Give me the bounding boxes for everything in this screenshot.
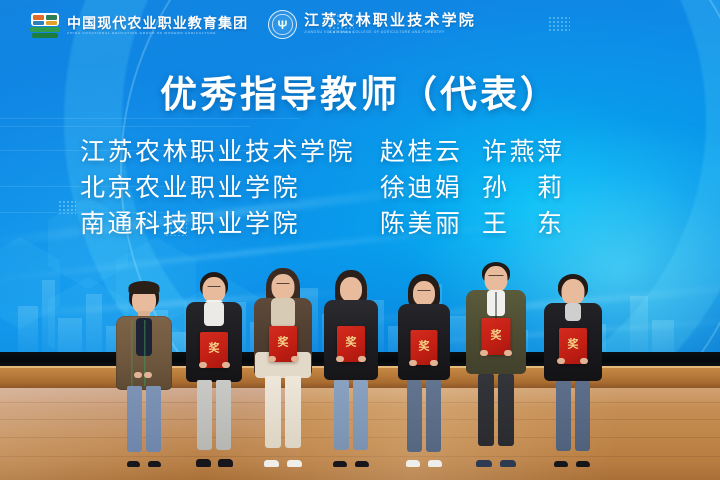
layered-book-mark-icon <box>30 11 60 41</box>
roster-names: 赵桂云 许燕萍 <box>380 132 584 168</box>
roster-person-name: 赵桂云 <box>380 132 482 168</box>
honoree-group: 奖 奖 <box>0 255 720 480</box>
list-item: 奖 <box>393 272 455 466</box>
roster-person-name: 孙 莉 <box>482 168 584 204</box>
roster-row: 江苏农林职业技术学院 赵桂云 许燕萍 <box>0 132 720 168</box>
roster-person-name: 王 东 <box>482 204 584 240</box>
decor-line <box>0 126 250 127</box>
list-item: 奖 <box>462 262 530 466</box>
roster-school-name: 江苏农林职业技术学院 <box>80 132 380 168</box>
circular-college-seal-icon: Ψ <box>268 10 297 39</box>
list-item: 奖 <box>540 270 606 466</box>
left-logo-cn-text: 中国现代农业职业教育集团 <box>67 16 248 31</box>
roster-names: 陈美丽 王 东 <box>380 204 584 240</box>
decor-line <box>0 118 300 119</box>
list-item <box>112 276 176 466</box>
roster-row: 北京农业职业学院 徐迪娟 孙 莉 <box>0 168 720 204</box>
right-logo-en-text: JIANGSU VOCATIONAL COLLEGE OF AGRICULTUR… <box>304 31 476 35</box>
certificate-emblem: 奖 <box>278 338 289 349</box>
roster-school-name: 南通科技职业学院 <box>80 204 380 240</box>
list-item: 奖 <box>250 268 316 466</box>
stage-photo-scene: 中国现代农业职业教育集团 CHINA VOCATIONAL EDUCATION … <box>0 0 720 480</box>
certificate-emblem: 奖 <box>419 341 430 352</box>
certificate-emblem: 奖 <box>346 338 357 349</box>
header-logo-band: 中国现代农业职业教育集团 CHINA VOCATIONAL EDUCATION … <box>0 0 720 52</box>
left-logo-en-text: CHINA VOCATIONAL EDUCATION GROUP OF MODE… <box>67 32 248 36</box>
honoree-roster: 江苏农林职业技术学院 赵桂云 许燕萍 北京农业职业学院 徐迪娟 孙 莉 南通科技… <box>0 132 720 240</box>
list-item: 奖 <box>182 270 246 466</box>
left-organization-logo: 中国现代农业职业教育集团 CHINA VOCATIONAL EDUCATION … <box>30 11 248 41</box>
slide-title: 优秀指导教师（代表） <box>0 64 720 118</box>
right-logo-cn-text: 江苏农林职业技术学院 <box>304 14 476 30</box>
roster-person-name: 陈美丽 <box>380 204 482 240</box>
certificate-emblem: 奖 <box>491 330 502 341</box>
roster-row: 南通科技职业学院 陈美丽 王 东 <box>0 204 720 240</box>
roster-person-name: 许燕萍 <box>482 132 584 168</box>
roster-school-name: 北京农业职业学院 <box>80 168 380 204</box>
list-item: 奖 <box>320 270 382 466</box>
certificate-emblem: 奖 <box>568 340 579 351</box>
right-organization-logo: Ψ 江苏农林职业技术学院 JIANGSU VOCATIONAL COLLEGE … <box>268 10 476 39</box>
roster-names: 徐迪娟 孙 莉 <box>380 168 584 204</box>
roster-person-name: 徐迪娟 <box>380 168 482 204</box>
certificate-emblem: 奖 <box>209 344 220 355</box>
